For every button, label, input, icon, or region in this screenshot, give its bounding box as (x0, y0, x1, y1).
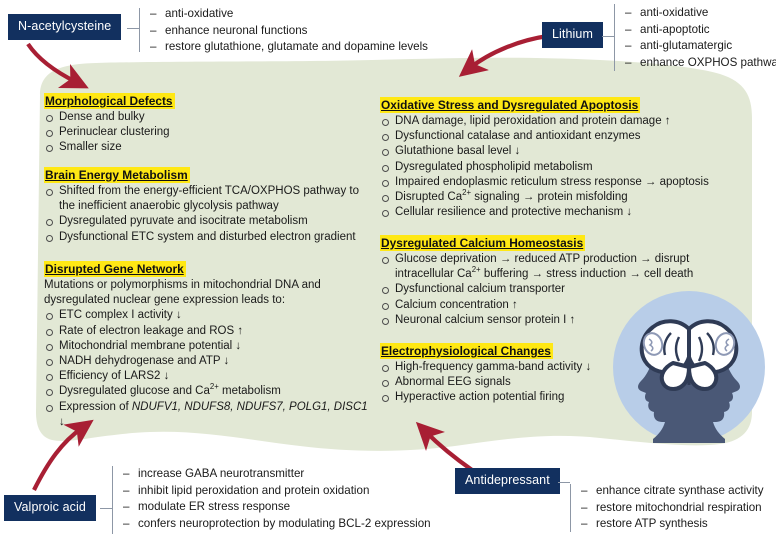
section-lead: Mutations or polymorphisms in mitochondr… (44, 278, 374, 308)
section-title: Brain Energy Metabolism (44, 167, 190, 183)
section-morphological-defects: Morphological Defects Dense and bulky Pe… (44, 92, 364, 156)
text-pre: Disrupted Ca (395, 191, 462, 203)
list-item: Dense and bulky (44, 110, 364, 125)
list-item: Dysfunctional calcium transporter (380, 282, 702, 297)
drug-effect-item: modulate ER stress response (123, 499, 431, 516)
charge-superscript: 2+ (472, 265, 481, 274)
section-title: Oxidative Stress and Dysregulated Apopto… (380, 97, 640, 113)
drug-effect-item: anti-oxidative (150, 6, 428, 23)
list-item: Perinuclear clustering (44, 125, 364, 140)
gene-names: NDUFV1, NDUFS8, NDUFS7, POLG1, DISC1 (132, 401, 368, 413)
section-list: Glucose deprivation → reduced ATP produc… (380, 252, 702, 328)
list-item: Hyperactive action potential firing (380, 390, 680, 405)
list-item-calcium: Dysregulated glucose and Ca2+ metabolism (44, 384, 374, 399)
text-post: buffering → stress induction → cell deat… (481, 268, 694, 280)
section-title: Morphological Defects (44, 93, 175, 109)
connector-stub-antidepressant (558, 482, 570, 483)
connector-rule-lithium (614, 4, 615, 71)
drug-effects-valproic-acid: increase GABA neurotransmitter inhibit l… (123, 466, 431, 532)
list-item: Dysregulated pyruvate and isocitrate met… (44, 214, 370, 229)
drug-effect-item: restore mitochondrial respiration (581, 500, 764, 517)
text-post: ↓ (59, 416, 65, 428)
drug-box-n-acetylcysteine[interactable]: N-acetylcysteine (8, 14, 121, 40)
section-brain-energy-metabolism: Brain Energy Metabolism Shifted from the… (44, 166, 370, 245)
drug-effect-item: enhance citrate synthase activity (581, 483, 764, 500)
arrow-antidepressant (426, 432, 472, 470)
section-title: Electrophysiological Changes (380, 343, 553, 359)
section-oxidative-stress: Oxidative Stress and Dysregulated Apopto… (380, 96, 772, 220)
diagram-canvas: N-acetylcysteine anti-oxidative enhance … (0, 0, 776, 536)
list-item-calcium: Disrupted Ca2+ signaling → protein misfo… (380, 190, 772, 205)
text-post: signaling → protein misfolding (471, 191, 628, 203)
arrow-nac (28, 44, 76, 82)
list-item: Mitochondrial membrane potential ↓ (44, 339, 374, 354)
list-item: High-frequency gamma-band activity ↓ (380, 360, 680, 375)
list-item: Impaired endoplasmic reticulum stress re… (380, 175, 772, 190)
drug-effect-item: restore ATP synthesis (581, 516, 764, 533)
section-title: Dysregulated Calcium Homeostasis (380, 235, 585, 251)
drug-effect-item: anti-oxidative (625, 5, 776, 22)
text-pre: Expression of (59, 401, 132, 413)
drug-box-valproic-acid[interactable]: Valproic acid (4, 495, 96, 521)
drug-effect-item: inhibit lipid peroxidation and protein o… (123, 483, 431, 500)
drug-box-lithium[interactable]: Lithium (542, 22, 603, 48)
list-item: Abnormal EEG signals (380, 375, 680, 390)
connector-rule-antidepressant (570, 484, 571, 532)
arrow-valproic (34, 428, 82, 490)
section-title: Disrupted Gene Network (44, 261, 186, 277)
drug-effect-item: confers neuroprotection by modulating BC… (123, 516, 431, 533)
drug-effect-item: enhance OXPHOS pathway (625, 55, 776, 72)
connector-rule-valproic (112, 466, 113, 534)
section-list: Dense and bulky Perinuclear clustering S… (44, 110, 364, 156)
connector-rule-nac (139, 8, 140, 52)
list-item: ETC complex I activity ↓ (44, 308, 374, 323)
list-item: Calcium concentration ↑ (380, 298, 702, 313)
connector-stub-nac (127, 28, 139, 29)
section-list: DNA damage, lipid peroxidation and prote… (380, 114, 772, 220)
section-list: Shifted from the energy-efficient TCA/OX… (44, 184, 370, 245)
drug-effect-item: anti-glutamatergic (625, 38, 776, 55)
list-item-glucose: Glucose deprivation → reduced ATP produc… (380, 252, 702, 282)
drug-box-antidepressant[interactable]: Antidepressant (455, 468, 560, 494)
list-item: Dysfunctional ETC system and disturbed e… (44, 230, 370, 245)
list-item: Smaller size (44, 140, 364, 155)
drug-effect-item: anti-apoptotic (625, 22, 776, 39)
drug-effects-lithium: anti-oxidative anti-apoptotic anti-gluta… (625, 5, 776, 71)
drug-effect-item: restore glutathione, glutamate and dopam… (150, 39, 428, 56)
section-disrupted-gene-network: Disrupted Gene Network Mutations or poly… (44, 260, 374, 430)
list-item: Neuronal calcium sensor protein I ↑ (380, 313, 702, 328)
drug-effect-item: increase GABA neurotransmitter (123, 466, 431, 483)
charge-superscript: 2+ (462, 188, 471, 197)
charge-superscript: 2+ (210, 383, 219, 392)
connector-stub-lithium (602, 36, 614, 37)
section-calcium-homeostasis: Dysregulated Calcium Homeostasis Glucose… (380, 234, 702, 328)
section-list: High-frequency gamma-band activity ↓ Abn… (380, 360, 680, 406)
connector-stub-valproic (100, 508, 112, 509)
drug-effects-n-acetylcysteine: anti-oxidative enhance neuronal function… (150, 6, 428, 56)
text-post: metabolism (219, 385, 281, 397)
list-item: Cellular resilience and protective mecha… (380, 205, 772, 220)
list-item-genes: Expression of NDUFV1, NDUFS8, NDUFS7, PO… (44, 400, 374, 430)
drug-effect-item: enhance neuronal functions (150, 23, 428, 40)
section-electrophysiological-changes: Electrophysiological Changes High-freque… (380, 342, 680, 406)
list-item: DNA damage, lipid peroxidation and prote… (380, 114, 772, 129)
list-item: Glutathione basal level ↓ (380, 144, 772, 159)
drug-effects-antidepressant: enhance citrate synthase activity restor… (581, 483, 764, 533)
list-item: Shifted from the energy-efficient TCA/OX… (44, 184, 370, 214)
list-item: Dysregulated phospholipid metabolism (380, 160, 772, 175)
list-item: NADH dehydrogenase and ATP ↓ (44, 354, 374, 369)
text-pre: Dysregulated glucose and Ca (59, 385, 210, 397)
list-item: Rate of electron leakage and ROS ↑ (44, 324, 374, 339)
section-list: ETC complex I activity ↓ Rate of electro… (44, 308, 374, 430)
list-item: Dysfunctional catalase and antioxidant e… (380, 129, 772, 144)
arrow-lithium (470, 36, 548, 68)
